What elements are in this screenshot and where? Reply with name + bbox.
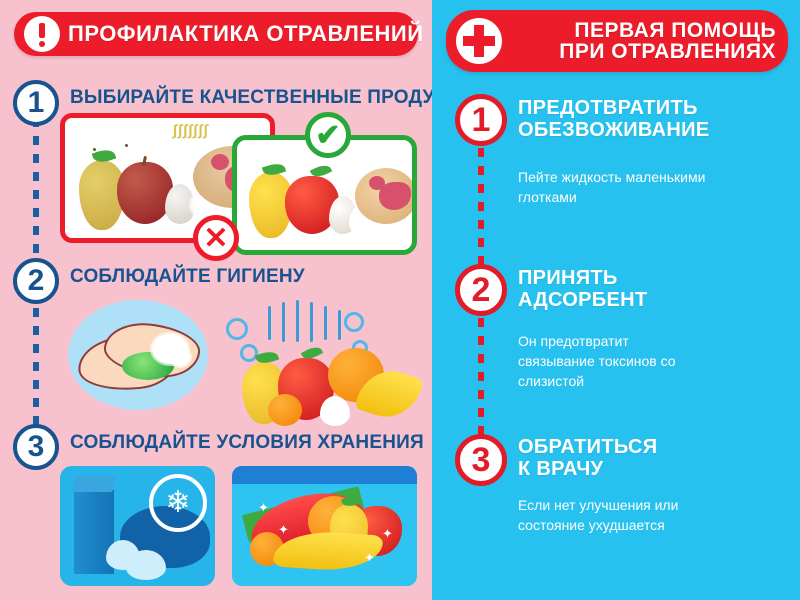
step-title-2-line2: АДСОРБЕНТ (518, 290, 647, 312)
step-title-2: ПРИНЯТЬ АДСОРБЕНТ (518, 268, 647, 311)
prevention-header-bar: ПРОФИЛАКТИКА ОТРАВЛЕНИЙ (14, 12, 418, 56)
apple-icon (117, 162, 173, 224)
first-aid-header-line2: ПРИ ОТРАВЛЕНИЯХ (508, 41, 776, 62)
steam-icon: ∫∫∫∫∫∫∫ (173, 122, 209, 139)
step-connector-2 (33, 290, 39, 430)
step-title-3-line2: К ВРАЧУ (518, 459, 657, 481)
step-title-1-line1: ПРЕДОТВРАТИТЬ (518, 98, 709, 120)
step-connector-1 (33, 118, 39, 268)
step-title-3-line1: ОБРАТИТЬСЯ (518, 437, 657, 459)
container-lid (232, 466, 417, 484)
step-title-1: ВЫБИРАЙТЕ КАЧЕСТВЕННЫЕ ПРОДУКТЫ (70, 87, 432, 109)
first-aid-panel: ПЕРВАЯ ПОМОЩЬ ПРИ ОТРАВЛЕНИЯХ (432, 0, 800, 600)
step-title-1-line2: ОБЕЗВОЖИВАНИЕ (518, 120, 709, 142)
step-connector-2 (478, 318, 484, 440)
step-number-2: 2 (13, 258, 59, 304)
step-connector-1 (478, 148, 484, 273)
fridge-storage-illustration: ❄ (60, 466, 215, 586)
step-title-2-line1: ПРИНЯТЬ (518, 268, 647, 290)
first-aid-header-line1: ПЕРВАЯ ПОМОЩЬ (508, 20, 776, 41)
step-title-3: СОБЛЮДАЙТЕ УСЛОВИЯ ХРАНЕНИЯ (70, 432, 424, 454)
forbidden-badge: ✕ (193, 215, 239, 261)
container-storage-illustration: ✦ ✦ ✦ ✦ (232, 466, 417, 586)
exclamation-icon (24, 16, 60, 52)
step-number-1: 1 (13, 80, 59, 126)
egg-icon (320, 396, 350, 426)
step-body-3: Если нет улучшения или состояние ухудшае… (518, 496, 708, 536)
prevention-panel: ПРОФИЛАКТИКА ОТРАВЛЕНИЙ 1 2 3 ВЫБИРАЙТЕ … (0, 0, 432, 600)
step-number-2: 2 (455, 264, 507, 316)
water-bubble-icon (226, 318, 248, 340)
step-number-3: 3 (13, 424, 59, 470)
step-title-1: ПРЕДОТВРАТИТЬ ОБЕЗВОЖИВАНИЕ (518, 98, 709, 141)
snowflake-icon: ❄ (149, 474, 207, 532)
step-number-1: 1 (455, 94, 507, 146)
first-aid-header-title: ПЕРВАЯ ПОМОЩЬ ПРИ ОТРАВЛЕНИЯХ (508, 20, 780, 63)
prevention-header-title: ПРОФИЛАКТИКА ОТРАВЛЕНИЙ (68, 23, 424, 45)
step-title-2: СОБЛЮДАЙТЕ ГИГИЕНУ (70, 266, 305, 288)
step-body-2: Он предотвратит связывание токсинов со с… (518, 332, 708, 392)
apricot-icon (268, 394, 302, 426)
approved-badge: ✔ (305, 112, 351, 158)
step-body-1: Пейте жидкость маленькими глотками (518, 168, 708, 208)
step-title-3: ОБРАТИТЬСЯ К ВРАЧУ (518, 437, 657, 480)
step-number-3: 3 (455, 434, 507, 486)
first-aid-header-bar: ПЕРВАЯ ПОМОЩЬ ПРИ ОТРАВЛЕНИЯХ (446, 10, 788, 72)
medical-cross-icon (456, 18, 502, 64)
infographic-poster: ПРОФИЛАКТИКА ОТРАВЛЕНИЙ 1 2 3 ВЫБИРАЙТЕ … (0, 0, 800, 600)
